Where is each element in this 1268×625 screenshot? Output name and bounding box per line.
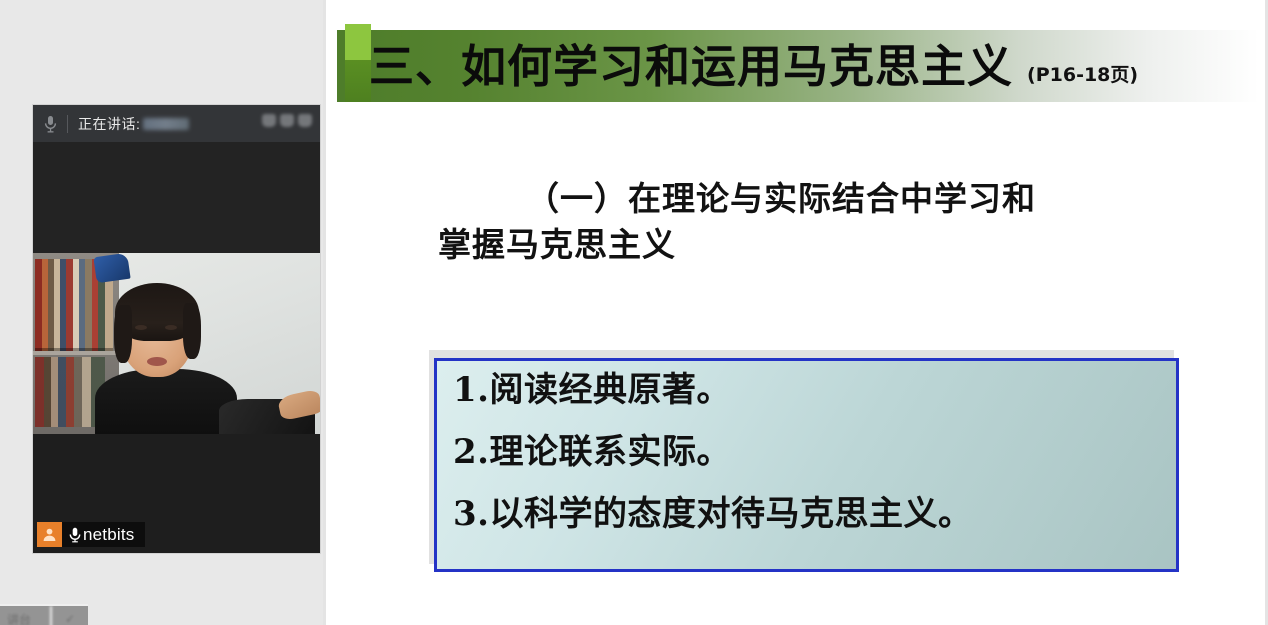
participant-name: netbits bbox=[83, 525, 135, 545]
subtitle-line-1: （一）在理论与实际结合中学习和 bbox=[438, 176, 1168, 222]
list-item: 2.理论联系实际。 bbox=[453, 435, 1176, 469]
person-icon bbox=[37, 522, 62, 547]
header-divider bbox=[67, 115, 68, 133]
video-letterbox-top bbox=[33, 142, 320, 253]
badge-microphone-icon bbox=[69, 527, 81, 543]
webcam-feed bbox=[33, 253, 320, 434]
microphone-icon bbox=[33, 115, 67, 133]
screen-root: 正在讲话: bbox=[0, 0, 1268, 625]
bottom-toolbar[interactable]: 讲台 ✓ bbox=[0, 604, 88, 625]
video-panel[interactable]: 正在讲话: bbox=[33, 105, 320, 553]
participant-badge: netbits bbox=[37, 522, 145, 547]
toolbar-item-two[interactable]: ✓ bbox=[52, 606, 88, 625]
video-panel-header: 正在讲话: bbox=[33, 105, 320, 143]
slide-subtitle: （一）在理论与实际结合中学习和 掌握马克思主义 bbox=[438, 176, 1168, 267]
speaker-name-masked bbox=[143, 118, 189, 130]
slide-title-banner: 三、如何学习和运用马克思主义 (P16-18页) bbox=[337, 30, 1259, 102]
meeting-sidebar: 正在讲话: bbox=[0, 0, 323, 625]
speaking-label: 正在讲话: bbox=[78, 114, 140, 134]
subtitle-line-2: 掌握马克思主义 bbox=[438, 225, 676, 264]
header-icon-three[interactable] bbox=[298, 114, 312, 127]
header-action-icons[interactable] bbox=[262, 114, 312, 127]
header-icon-one[interactable] bbox=[262, 114, 276, 127]
banner-accent-bar bbox=[345, 24, 371, 102]
slide-title: 三、如何学习和运用马克思主义 bbox=[369, 44, 1013, 89]
content-box: 1.阅读经典原著。 2.理论联系实际。 3.以科学的态度对待马克思主义。 bbox=[434, 358, 1179, 572]
list-item: 1.阅读经典原著。 bbox=[453, 373, 1176, 407]
header-icon-two[interactable] bbox=[280, 114, 294, 127]
slide-area: 三、如何学习和运用马克思主义 (P16-18页) （一）在理论与实际结合中学习和… bbox=[323, 0, 1268, 625]
list-item: 3.以科学的态度对待马克思主义。 bbox=[453, 497, 1176, 531]
toolbar-item-one[interactable]: 讲台 bbox=[0, 606, 52, 625]
slide-title-page-note: (P16-18页) bbox=[1027, 60, 1138, 87]
